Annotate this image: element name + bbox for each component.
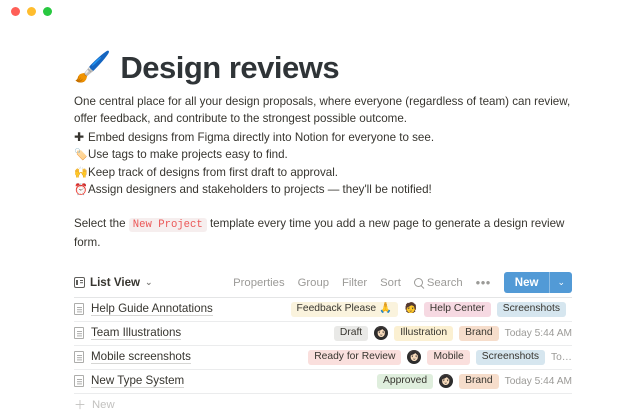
row-date: Today 5:44 AM xyxy=(505,328,572,339)
page-title-row: 🖌️ Design reviews xyxy=(74,52,572,85)
maximize-window-button[interactable] xyxy=(43,7,52,16)
add-new-row-label: New xyxy=(92,399,115,411)
page-title[interactable]: Design reviews xyxy=(120,52,339,85)
feature-line-assign: ⏰ Assign designers and stakeholders to p… xyxy=(74,181,572,199)
row-title[interactable]: Team Illustrations xyxy=(91,326,181,340)
feature-line-track: 🙌 Keep track of designs from first draft… xyxy=(74,164,572,182)
row-date: To… xyxy=(551,352,572,363)
window-titlebar xyxy=(0,0,640,22)
more-options-icon[interactable]: ••• xyxy=(476,279,491,287)
table-row[interactable]: Help Guide Annotations Feedback Please 🙏… xyxy=(74,297,572,321)
tab-list-view[interactable]: List View ⌄ xyxy=(74,276,153,289)
row-properties: Draft 👩🏻 Illustration Brand Today 5:44 A… xyxy=(334,326,572,341)
feature-line-track-text: Keep track of designs from first draft t… xyxy=(88,164,338,182)
plus-icon: ＋ xyxy=(74,400,86,410)
raised-hands-icon: 🙌 xyxy=(74,164,88,182)
status-badge[interactable]: Approved xyxy=(377,374,433,389)
minimize-window-button[interactable] xyxy=(27,7,36,16)
status-badge[interactable]: Draft xyxy=(334,326,368,341)
document-icon xyxy=(74,327,84,339)
feature-line-embed: ✚ Embed designs from Figma directly into… xyxy=(74,129,572,147)
row-date: Today 5:44 AM xyxy=(505,376,572,387)
new-page-button[interactable]: New ⌄ xyxy=(504,272,572,293)
status-badge[interactable]: Ready for Review xyxy=(308,350,401,365)
close-window-button[interactable] xyxy=(11,7,20,16)
alarm-clock-icon: ⏰ xyxy=(74,181,88,199)
search-icon xyxy=(414,278,423,287)
chevron-down-icon: ⌄ xyxy=(145,278,153,288)
row-title[interactable]: New Type System xyxy=(91,374,184,388)
row-title[interactable]: Mobile screenshots xyxy=(91,350,191,364)
tag-badge[interactable]: Mobile xyxy=(427,350,469,365)
tag-badge[interactable]: Brand xyxy=(459,326,498,341)
tag-badge[interactable]: Illustration xyxy=(394,326,453,341)
avatar[interactable]: 👩🏻 xyxy=(374,326,388,340)
document-icon xyxy=(74,375,84,387)
tag-badge[interactable]: Screenshots xyxy=(497,302,566,317)
table-row[interactable]: Mobile screenshots Ready for Review 👩🏻 M… xyxy=(74,345,572,369)
sort-button[interactable]: Sort xyxy=(380,277,401,289)
properties-button[interactable]: Properties xyxy=(233,277,285,289)
list-view-label: List View xyxy=(90,276,140,289)
document-icon xyxy=(74,351,84,363)
tag-badge[interactable]: Screenshots xyxy=(476,350,545,365)
avatar[interactable]: 🧑 xyxy=(404,302,418,316)
database-rows: Help Guide Annotations Feedback Please 🙏… xyxy=(74,297,572,416)
new-page-button-label: New xyxy=(504,277,550,289)
feature-line-embed-text: Embed designs from Figma directly into N… xyxy=(88,129,434,147)
avatar[interactable]: 👩🏻 xyxy=(439,374,453,388)
row-title[interactable]: Help Guide Annotations xyxy=(91,302,213,316)
page-content: 🖌️ Design reviews One central place for … xyxy=(74,52,572,416)
new-project-code-chip: New Project xyxy=(129,218,207,232)
feature-line-assign-text: Assign designers and stakeholders to pro… xyxy=(88,181,432,199)
feature-line-tags: 🏷️ Use tags to make projects easy to fin… xyxy=(74,146,572,164)
page-body: 🖌️ Design reviews One central place for … xyxy=(0,52,640,416)
feature-line-tags-text: Use tags to make projects easy to find. xyxy=(88,146,288,164)
add-new-row-button[interactable]: ＋ New xyxy=(74,393,572,416)
template-instruction: Select the New Project template every ti… xyxy=(74,215,572,251)
database-toolbar-actions: Properties Group Filter Sort Search ••• … xyxy=(233,272,572,293)
document-icon xyxy=(74,303,84,315)
table-row[interactable]: Team Illustrations Draft 👩🏻 Illustration… xyxy=(74,321,572,345)
tag-icon: 🏷️ xyxy=(74,146,88,164)
paintbrush-icon[interactable]: 🖌️ xyxy=(74,53,111,83)
search-button[interactable]: Search xyxy=(414,277,463,289)
tag-badge[interactable]: Brand xyxy=(459,374,498,389)
row-properties: Ready for Review 👩🏻 Mobile Screenshots T… xyxy=(308,350,572,365)
avatar[interactable]: 👩🏻 xyxy=(407,350,421,364)
search-label: Search xyxy=(427,277,463,289)
tag-badge[interactable]: Help Center xyxy=(424,302,491,317)
intro-paragraph: One central place for all your design pr… xyxy=(74,93,572,127)
table-row[interactable]: New Type System Approved 👩🏻 Brand Today … xyxy=(74,369,572,393)
plus-icon: ✚ xyxy=(74,129,88,147)
status-badge[interactable]: Feedback Please 🙏 xyxy=(291,302,398,317)
list-view-icon xyxy=(74,277,85,288)
group-button[interactable]: Group xyxy=(298,277,329,289)
template-instruction-before: Select the xyxy=(74,217,129,230)
chevron-down-icon[interactable]: ⌄ xyxy=(550,278,572,288)
database-toolbar: List View ⌄ Properties Group Filter Sort… xyxy=(74,271,572,295)
row-properties: Feedback Please 🙏 🧑 Help Center Screensh… xyxy=(291,302,572,317)
filter-button[interactable]: Filter xyxy=(342,277,367,289)
row-properties: Approved 👩🏻 Brand Today 5:44 AM xyxy=(377,374,572,389)
